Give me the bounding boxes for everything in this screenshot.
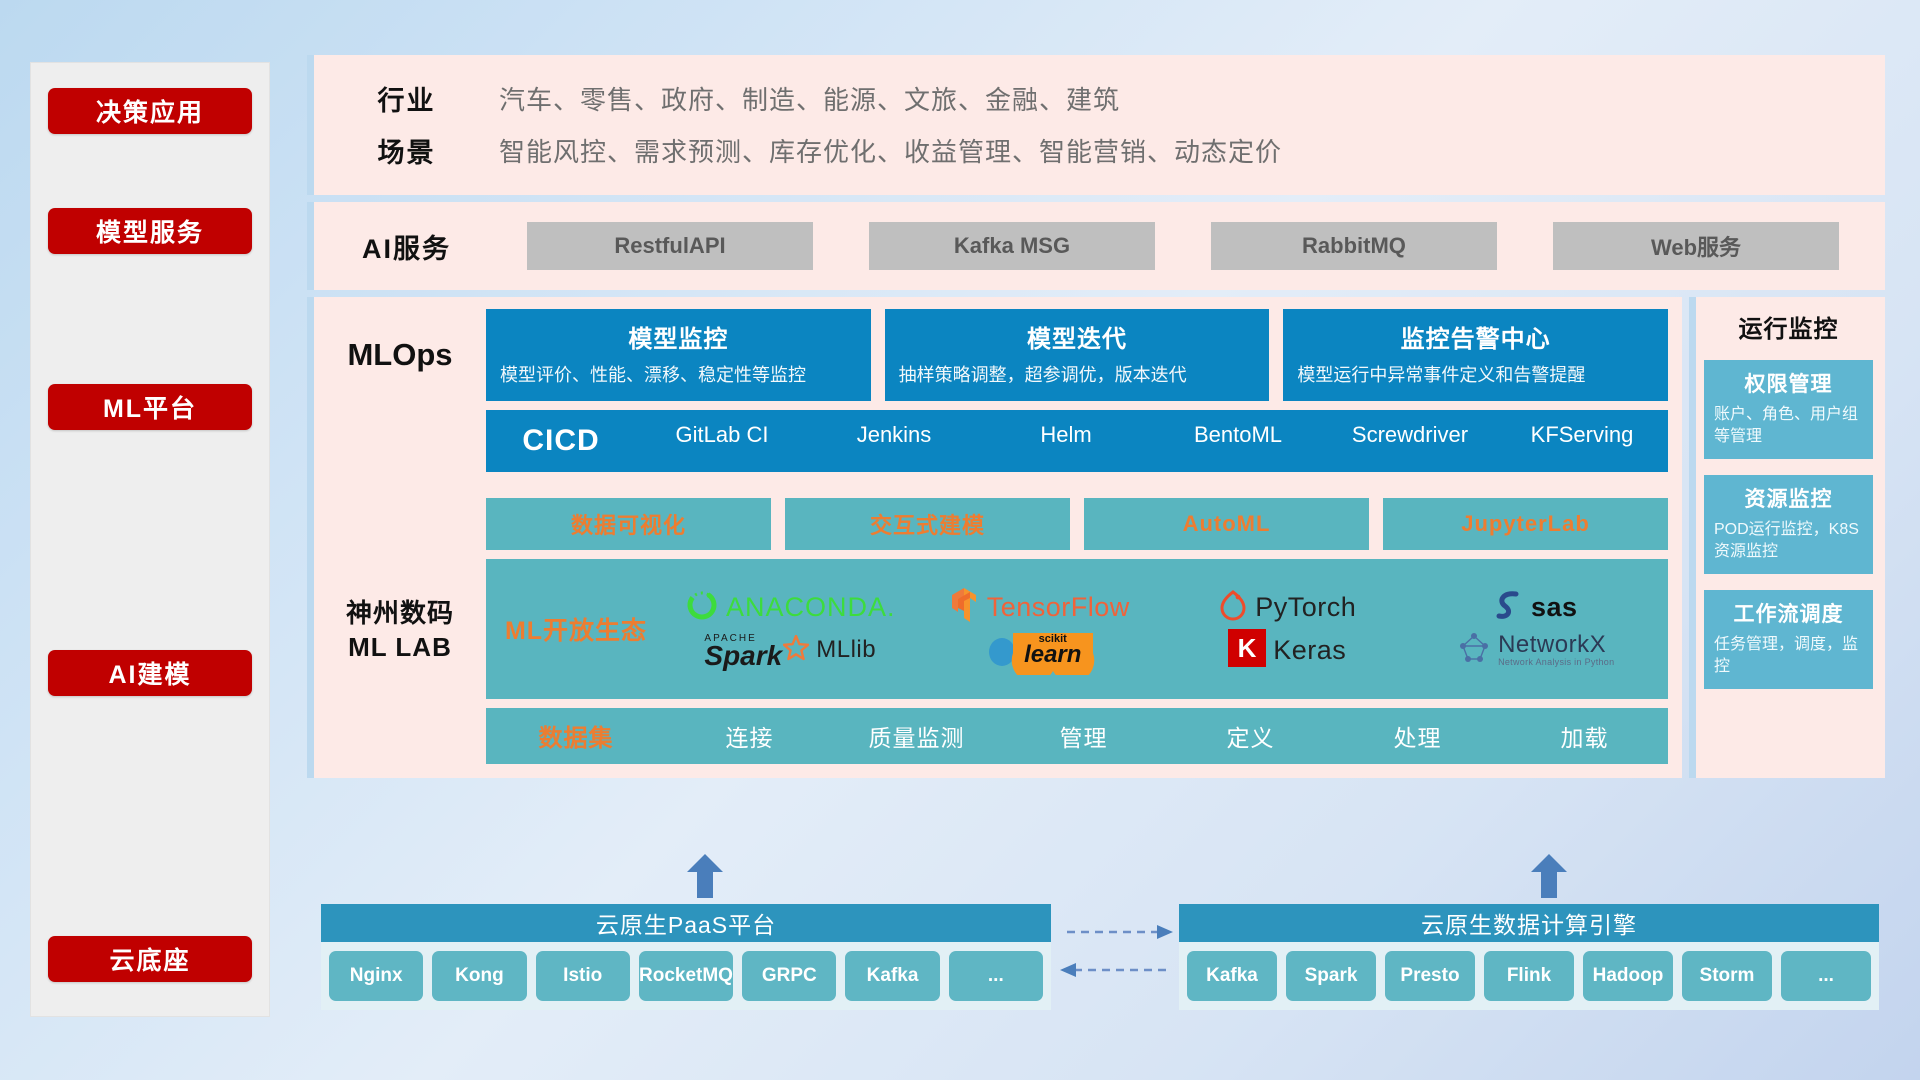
runtime-monitor-rail: 运行监控 权限管理 账户、角色、用户组等管理 资源监控 POD运行监控，K8S资… [1689, 297, 1885, 778]
stage-chip-cloud-base[interactable]: 云底座 [48, 936, 252, 982]
industry-scenario-band: 行业 汽车、零售、政府、制造、能源、文旅、金融、建筑 场景 智能风控、需求预测、… [307, 55, 1885, 195]
card-title: 资源监控 [1714, 483, 1863, 513]
card-title: 模型监控 [500, 319, 857, 354]
svg-text:K: K [1238, 633, 1257, 663]
logo-sas[interactable]: sas [1494, 589, 1578, 626]
service-web[interactable]: Web服务 [1553, 222, 1839, 270]
spark-icon: APACHE Spark [704, 633, 809, 668]
service-restful-api[interactable]: RestfulAPI [527, 222, 813, 270]
logo-label: sas [1531, 592, 1578, 623]
stage-chip-model-service[interactable]: 模型服务 [48, 208, 252, 254]
logo-label: TensorFlow [987, 592, 1130, 623]
spark-word-text: Spark [704, 644, 782, 668]
stage-label: AI建模 [108, 655, 191, 691]
logo-networkx[interactable]: NetworkX Network Analysis in Python [1457, 631, 1614, 670]
paas-column: 云原生PaaS平台 Nginx Kong Istio RocketMQ GRPC… [321, 904, 1051, 1010]
logo-tensorflow[interactable]: TensorFlow [948, 587, 1130, 628]
monitor-card-resource[interactable]: 资源监控 POD运行监控，K8S资源监控 [1704, 475, 1873, 574]
compute-chip-more[interactable]: ... [1781, 951, 1871, 1001]
scenario-row: 场景 智能风控、需求预测、库存优化、收益管理、智能营销、动态定价 [314, 124, 1885, 176]
stage-label: ML平台 [103, 389, 197, 425]
up-arrow-compute-icon [1529, 854, 1569, 898]
logo-label: ANACONDA. [726, 592, 896, 623]
card-desc: 任务管理，调度，监控 [1714, 634, 1863, 678]
mllab-body: 数据可视化 交互式建模 AutoML JupyterLab ML开放生态 [486, 498, 1668, 764]
logo-label: Keras [1273, 635, 1346, 666]
dataset-item-define[interactable]: 定义 [1167, 719, 1334, 753]
service-kafka-msg[interactable]: Kafka MSG [869, 222, 1155, 270]
mllab-tab-list: 数据可视化 交互式建模 AutoML JupyterLab [486, 498, 1668, 550]
cicd-title: CICD [486, 424, 636, 458]
stage-chip-decision[interactable]: 决策应用 [48, 88, 252, 134]
card-desc: 账户、角色、用户组等管理 [1714, 404, 1863, 448]
mlops-card-model-iteration[interactable]: 模型迭代 抽样策略调整，超参调优，版本迭代 [885, 309, 1270, 401]
dataset-title: 数据集 [486, 718, 666, 753]
card-desc: POD运行监控，K8S资源监控 [1714, 519, 1863, 563]
logo-anaconda[interactable]: ANACONDA. [685, 588, 896, 627]
infra-section: 云原生PaaS平台 Nginx Kong Istio RocketMQ GRPC… [307, 852, 1885, 1027]
logo-pytorch[interactable]: PyTorch [1218, 588, 1356, 627]
tab-data-visualization[interactable]: 数据可视化 [486, 498, 771, 550]
stage-label: 云底座 [109, 941, 190, 977]
card-title: 工作流调度 [1714, 598, 1863, 628]
compute-chip-hadoop[interactable]: Hadoop [1583, 951, 1673, 1001]
compute-chip-spark[interactable]: Spark [1286, 951, 1376, 1001]
cicd-item-screwdriver[interactable]: Screwdriver [1324, 410, 1496, 472]
card-desc: 模型评价、性能、漂移、稳定性等监控 [500, 363, 857, 389]
pytorch-icon [1218, 588, 1248, 627]
dataset-item-quality[interactable]: 质量监测 [833, 719, 1000, 753]
stage-chip-ai-modeling[interactable]: AI建模 [48, 650, 252, 696]
card-desc: 模型运行中异常事件定义和告警提醒 [1297, 363, 1654, 389]
service-rabbitmq[interactable]: RabbitMQ [1211, 222, 1497, 270]
logo-label: PyTorch [1255, 592, 1356, 623]
dataset-item-manage[interactable]: 管理 [1000, 719, 1167, 753]
cicd-bar: CICD GitLab CI Jenkins Helm BentoML Scre… [486, 410, 1668, 472]
paas-chip-kafka[interactable]: Kafka [845, 951, 939, 1001]
industry-value: 汽车、零售、政府、制造、能源、文旅、金融、建筑 [499, 80, 1120, 117]
stage-label: 决策应用 [96, 93, 204, 129]
networkx-icon [1457, 631, 1491, 670]
stage-chip-ml-platform[interactable]: ML平台 [48, 384, 252, 430]
compute-title: 云原生数据计算引擎 [1179, 904, 1879, 942]
mlops-card-alert-center[interactable]: 监控告警中心 模型运行中异常事件定义和告警提醒 [1283, 309, 1668, 401]
paas-chip-grpc[interactable]: GRPC [742, 951, 836, 1001]
logo-label: MLlib [816, 636, 876, 664]
paas-title: 云原生PaaS平台 [321, 904, 1051, 942]
logo-label: NetworkX [1498, 633, 1606, 657]
mlops-band: MLOps 模型监控 模型评价、性能、漂移、稳定性等监控 模型迭代 抽样策略调整… [307, 297, 1682, 484]
paas-chip-row: Nginx Kong Istio RocketMQ GRPC Kafka ... [321, 942, 1051, 1010]
logo-keras[interactable]: K Keras [1228, 629, 1346, 672]
cicd-item-gitlab-ci[interactable]: GitLab CI [636, 410, 808, 472]
dataset-item-process[interactable]: 处理 [1334, 719, 1501, 753]
compute-chip-flink[interactable]: Flink [1484, 951, 1574, 1001]
paas-chip-more[interactable]: ... [949, 951, 1043, 1001]
networkx-tagline: Network Analysis in Python [1498, 657, 1614, 667]
keras-icon: K [1228, 629, 1266, 672]
compute-chip-kafka[interactable]: Kafka [1187, 951, 1277, 1001]
ml-ecosystem-panel: ML开放生态 ANACONDA. [486, 559, 1668, 699]
logo-spark-mllib[interactable]: APACHE Spark MLlib [704, 633, 876, 668]
monitor-card-workflow[interactable]: 工作流调度 任务管理，调度，监控 [1704, 590, 1873, 689]
runtime-monitor-title: 运行监控 [1704, 309, 1873, 344]
tab-jupyterlab[interactable]: JupyterLab [1383, 498, 1668, 550]
card-title: 权限管理 [1714, 368, 1863, 398]
tab-interactive-modeling[interactable]: 交互式建模 [785, 498, 1070, 550]
paas-chip-rocketmq[interactable]: RocketMQ [639, 951, 733, 1001]
tab-automl[interactable]: AutoML [1084, 498, 1369, 550]
stage-label: 模型服务 [96, 213, 204, 249]
logo-label: learn [1024, 644, 1081, 667]
main-column: 行业 汽车、零售、政府、制造、能源、文旅、金融、建筑 场景 智能风控、需求预测、… [307, 55, 1885, 778]
ai-service-list: RestfulAPI Kafka MSG RabbitMQ Web服务 [499, 222, 1885, 270]
platform-and-monitor: MLOps 模型监控 模型评价、性能、漂移、稳定性等监控 模型迭代 抽样策略调整… [307, 297, 1885, 778]
cicd-item-jenkins[interactable]: Jenkins [808, 410, 980, 472]
mlops-card-list: 模型监控 模型评价、性能、漂移、稳定性等监控 模型迭代 抽样策略调整，超参调优，… [486, 309, 1668, 401]
anaconda-icon [685, 588, 719, 627]
scenario-value: 智能风控、需求预测、库存优化、收益管理、智能营销、动态定价 [499, 132, 1282, 169]
industry-key: 行业 [314, 79, 499, 118]
paas-chip-nginx[interactable]: Nginx [329, 951, 423, 1001]
monitor-card-permission[interactable]: 权限管理 账户、角色、用户组等管理 [1704, 360, 1873, 459]
paas-compute-link [1059, 912, 1174, 992]
paas-chip-kong[interactable]: Kong [432, 951, 526, 1001]
cicd-item-kfserving[interactable]: KFServing [1496, 410, 1668, 472]
dataset-item-load[interactable]: 加载 [1501, 719, 1668, 753]
cicd-item-helm[interactable]: Helm [980, 410, 1152, 472]
logo-scikit-learn[interactable]: scikit learn [983, 630, 1095, 670]
mlops-row: MLOps 模型监控 模型评价、性能、漂移、稳定性等监控 模型迭代 抽样策略调整… [314, 309, 1668, 401]
paas-chip-istio[interactable]: Istio [536, 951, 630, 1001]
compute-chip-presto[interactable]: Presto [1385, 951, 1475, 1001]
dataset-bar: 数据集 连接 质量监测 管理 定义 处理 加载 [486, 708, 1668, 764]
mlops-label: MLOps [314, 309, 486, 401]
up-arrow-paas-icon [685, 854, 725, 898]
dataset-item-connect[interactable]: 连接 [666, 719, 833, 753]
scenario-key: 场景 [314, 131, 499, 170]
compute-chip-row: Kafka Spark Presto Flink Hadoop Storm ..… [1179, 942, 1879, 1010]
ml-ecosystem-label: ML开放生态 [486, 611, 666, 647]
tensorflow-icon [948, 587, 980, 628]
ai-service-band: AI服务 RestfulAPI Kafka MSG RabbitMQ Web服务 [307, 202, 1885, 290]
mlops-card-model-monitoring[interactable]: 模型监控 模型评价、性能、漂移、稳定性等监控 [486, 309, 871, 401]
ai-service-label: AI服务 [314, 227, 499, 266]
card-desc: 抽样策略调整，超参调优，版本迭代 [899, 363, 1256, 389]
ml-logo-grid: ANACONDA. TensorFlow [666, 586, 1668, 672]
diagram-root: 决策应用 模型服务 ML平台 AI建模 云底座 行业 汽车、零售、政府、制造、能… [0, 0, 1920, 1080]
cicd-item-bentoml[interactable]: BentoML [1152, 410, 1324, 472]
sas-icon [1494, 589, 1524, 626]
card-title: 模型迭代 [899, 319, 1256, 354]
card-title: 监控告警中心 [1297, 319, 1654, 354]
compute-chip-storm[interactable]: Storm [1682, 951, 1772, 1001]
industry-row: 行业 汽车、零售、政府、制造、能源、文旅、金融、建筑 [314, 72, 1885, 124]
compute-column: 云原生数据计算引擎 Kafka Spark Presto Flink Hadoo… [1179, 904, 1879, 1010]
stage-rail [30, 62, 270, 1017]
mllab-band: 神州数码 ML LAB 数据可视化 交互式建模 AutoML JupyterLa… [307, 484, 1682, 778]
mllab-label-line2: ML LAB [348, 631, 452, 665]
mllab-label-line1: 神州数码 [346, 597, 454, 631]
mllab-label: 神州数码 ML LAB [314, 498, 486, 764]
